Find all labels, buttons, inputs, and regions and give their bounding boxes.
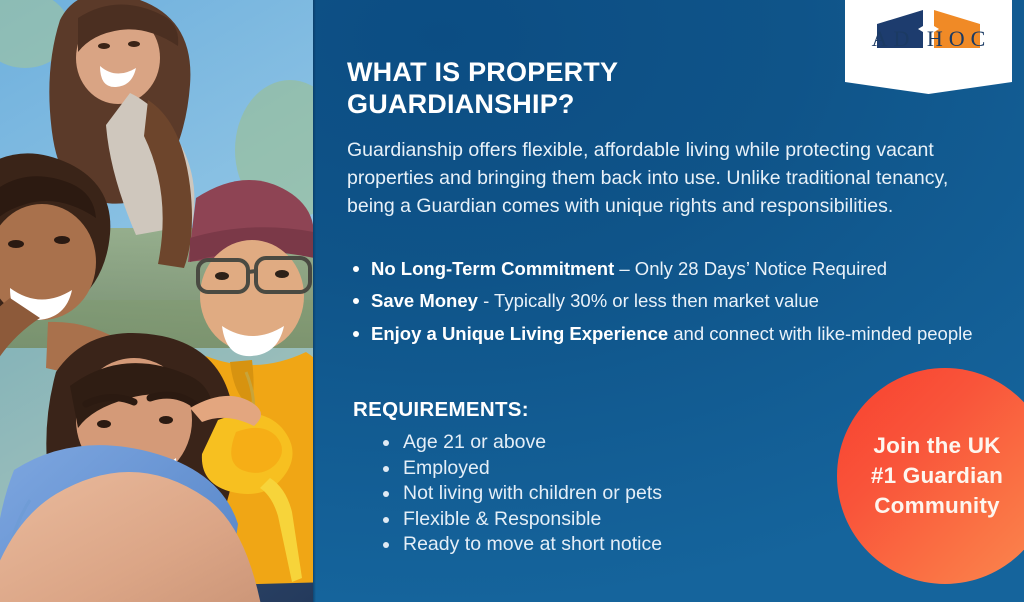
list-item: Not living with children or pets (375, 481, 845, 507)
list-item: Ready to move at short notice (375, 532, 845, 558)
benefit-label: No Long-Term Commitment (371, 258, 614, 279)
list-item: No Long-Term Commitment – Only 28 Days’ … (349, 256, 989, 282)
list-item: Enjoy a Unique Living Experience and con… (349, 321, 989, 347)
benefit-detail: – Only 28 Days’ Notice Required (614, 258, 887, 279)
page-title: WHAT IS PROPERTY GUARDIANSHIP? (347, 57, 767, 120)
cta-text: Join the UK #1 Guardian Community (847, 431, 1024, 521)
list-item: Flexible & Responsible (375, 507, 845, 533)
poster: AD HOC WHAT IS PROPERTY GUARDIANSHIP? Gu… (0, 0, 1024, 602)
benefit-label: Enjoy a Unique Living Experience (371, 323, 668, 344)
cta-line-2: #1 Guardian (847, 461, 1024, 491)
list-item: Employed (375, 456, 845, 482)
intro-paragraph: Guardianship offers flexible, affordable… (347, 137, 955, 221)
benefit-label: Save Money (371, 290, 478, 311)
requirements-title: REQUIREMENTS: (353, 398, 529, 422)
list-item: Save Money - Typically 30% or less then … (349, 288, 989, 314)
requirements-list: Age 21 or above Employed Not living with… (375, 430, 845, 558)
list-item: Age 21 or above (375, 430, 845, 456)
benefit-detail: and connect with like-minded people (668, 323, 972, 344)
benefits-list: No Long-Term Commitment – Only 28 Days’ … (349, 256, 989, 353)
cta-line-3: Community (847, 491, 1024, 521)
group-photo (0, 0, 313, 602)
panel-edge-shadow (313, 0, 316, 602)
benefit-detail: - Typically 30% or less then market valu… (478, 290, 819, 311)
cta-line-1: Join the UK (847, 431, 1024, 461)
